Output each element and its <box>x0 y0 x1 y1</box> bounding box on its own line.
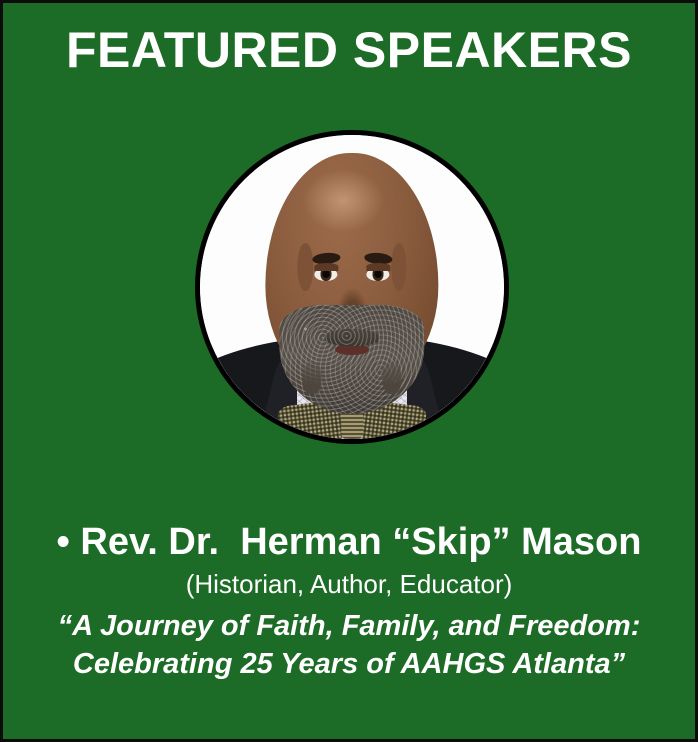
ear-right <box>391 243 407 290</box>
featured-speakers-slide: FEATURED SPEAKERS <box>0 0 698 742</box>
forehead-highlight <box>303 170 383 232</box>
portrait-photo <box>200 135 504 439</box>
speaker-portrait <box>195 130 509 444</box>
beard-cheek-left <box>303 362 322 395</box>
beard-cheek-right <box>383 362 402 395</box>
portrait-circle-frame <box>195 130 509 444</box>
speaker-details: • Rev. Dr. Herman “Skip” Mason (Historia… <box>3 519 695 683</box>
talk-title: “A Journey of Faith, Family, and Freedom… <box>3 607 695 683</box>
page-title: FEATURED SPEAKERS <box>3 21 695 79</box>
speaker-role: (Historian, Author, Educator) <box>3 567 695 601</box>
speaker-name: • Rev. Dr. Herman “Skip” Mason <box>3 519 695 565</box>
talk-title-line-2: Celebrating 25 Years of AAHGS Atlanta” <box>3 645 695 683</box>
eyelid-left <box>314 263 338 270</box>
ear-left <box>297 243 313 290</box>
talk-title-line-1: “A Journey of Faith, Family, and Freedom… <box>3 607 695 645</box>
eyelid-right <box>366 263 390 270</box>
mustache <box>324 329 379 347</box>
